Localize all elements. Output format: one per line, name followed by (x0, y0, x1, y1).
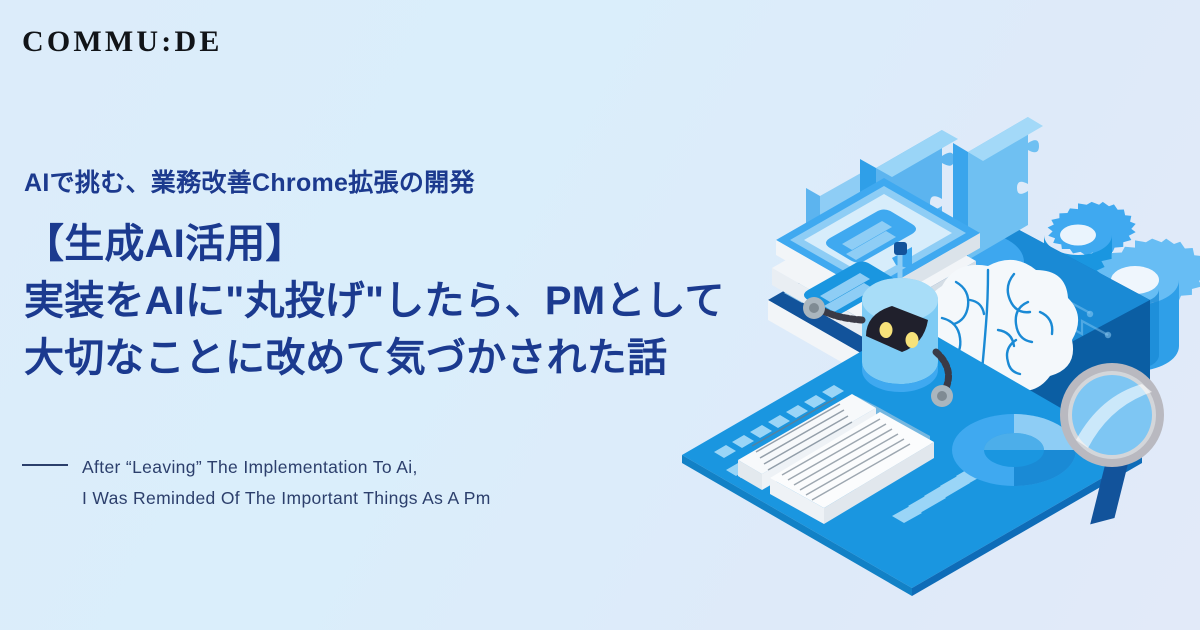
bar-chart-icon (892, 447, 1018, 523)
subtitle-rule-icon (22, 464, 68, 466)
gear-icon-front (1091, 239, 1200, 371)
circuit-slab (870, 225, 1150, 465)
hero-text-block: AIで挑む、業務改善Chrome拡張の開発 【生成AI活用】 実装をAIに"丸投… (24, 168, 754, 386)
headline-line-1: 【生成AI活用】 (24, 216, 754, 273)
stacked-books (768, 178, 980, 375)
donut-chart-icon (952, 414, 1076, 486)
headline-line-3: 大切なことに改めて気づかされた話 (24, 330, 754, 387)
chat-bubble-upper (826, 210, 924, 291)
puzzle-piece-right (953, 117, 1043, 260)
brand-logo[interactable]: COMMU:DE (22, 27, 223, 57)
robot-head-icon (803, 242, 953, 407)
headline-line-2: 実装をAIに"丸投げ"したら、PMとして (24, 273, 754, 330)
puzzle-piece-left (806, 169, 877, 252)
subtitle-line-1: After “Leaving” The Implementation To Ai… (82, 452, 491, 483)
page-title: 【生成AI活用】 実装をAIに"丸投げ"したら、PMとして 大切なことに改めて気… (24, 216, 754, 386)
magnifier-icon (1060, 363, 1164, 530)
subtitle-block: After “Leaving” The Implementation To Ai… (22, 452, 491, 513)
open-book (738, 394, 934, 524)
subtitle-text: After “Leaving” The Implementation To Ai… (82, 452, 491, 513)
isometric-ai-illustration (680, 0, 1200, 630)
hero-eyebrow: AIで挑む、業務改善Chrome拡張の開発 (24, 168, 754, 198)
chat-bubble-lower (804, 262, 894, 324)
gear-icon-back (1044, 202, 1136, 295)
brain-icon (926, 260, 1078, 394)
cylinder-shape (916, 231, 1024, 389)
puzzle-piece-middle (860, 130, 958, 282)
chat-bubble-right (912, 366, 1020, 438)
ogp-card: COMMU:DE AIで挑む、業務改善Chrome拡張の開発 【生成AI活用】 … (0, 0, 1200, 630)
subtitle-line-2: I Was Reminded Of The Important Things A… (82, 483, 491, 514)
